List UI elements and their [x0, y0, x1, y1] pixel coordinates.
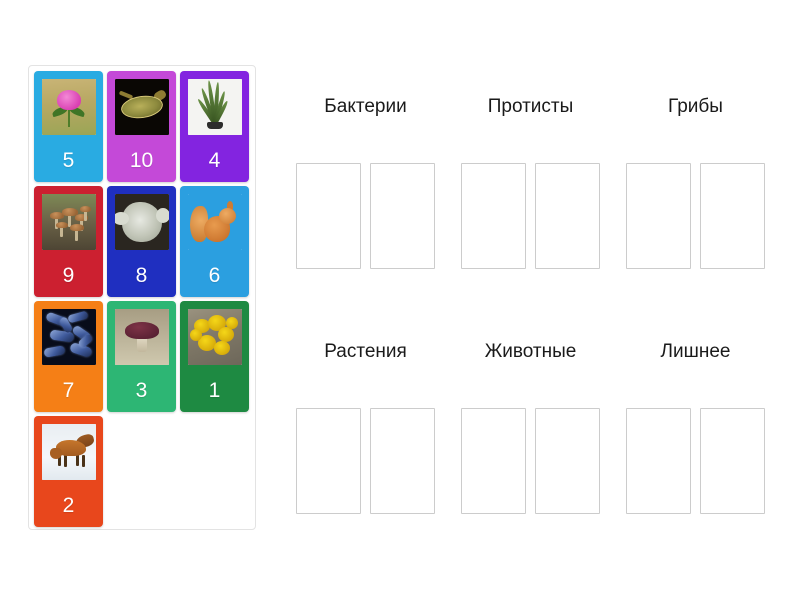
category-fungi: Грибы	[613, 95, 778, 269]
category-bacteria-dropzone-2[interactable]	[370, 163, 435, 269]
card-tray-panel: 51049867312	[28, 65, 256, 530]
category-animals: Животные	[448, 340, 613, 514]
fox-in-snow-image	[42, 424, 96, 480]
category-animals-label: Животные	[485, 340, 577, 364]
card-number-label: 2	[63, 495, 75, 516]
card-number-label: 4	[209, 150, 221, 171]
card-3[interactable]: 3	[107, 301, 176, 412]
category-plants-dropzone-2[interactable]	[370, 408, 435, 514]
card-number-label: 6	[209, 265, 221, 286]
category-row-1: РастенияЖивотныеЛишнее	[283, 340, 778, 514]
card-5[interactable]: 5	[34, 71, 103, 182]
category-protists-dropzones	[461, 163, 600, 269]
honey-mushrooms-image	[42, 194, 96, 250]
grey-lichen-bark-image	[115, 194, 169, 250]
card-10[interactable]: 10	[107, 71, 176, 182]
category-animals-dropzones	[461, 408, 600, 514]
category-fungi-dropzone-1[interactable]	[626, 163, 691, 269]
category-extra: Лишнее	[613, 340, 778, 514]
card-number-label: 10	[130, 150, 153, 171]
category-plants-label: Растения	[324, 340, 407, 364]
clover-flower-image	[42, 79, 96, 135]
category-bacteria-label: Бактерии	[324, 95, 406, 119]
card-grid: 51049867312	[34, 71, 251, 529]
snake-plant-image	[188, 79, 242, 135]
card-9[interactable]: 9	[34, 186, 103, 297]
card-6[interactable]: 6	[180, 186, 249, 297]
card-1[interactable]: 1	[180, 301, 249, 412]
category-area: БактерииПротистыГрибыРастенияЖивотныеЛиш…	[283, 95, 778, 545]
category-row-0: БактерииПротистыГрибы	[283, 95, 778, 269]
card-8[interactable]: 8	[107, 186, 176, 297]
category-plants: Растения	[283, 340, 448, 514]
card-7[interactable]: 7	[34, 301, 103, 412]
squirrel-image	[188, 194, 242, 250]
card-slot-empty	[180, 416, 249, 527]
category-protists: Протисты	[448, 95, 613, 269]
category-plants-dropzone-1[interactable]	[296, 408, 361, 514]
category-animals-dropzone-2[interactable]	[535, 408, 600, 514]
yellow-lichen-rock-image	[188, 309, 242, 365]
card-2[interactable]: 2	[34, 416, 103, 527]
card-number-label: 3	[136, 380, 148, 401]
card-4[interactable]: 4	[180, 71, 249, 182]
bolete-mushroom-image	[115, 309, 169, 365]
category-plants-dropzones	[296, 408, 435, 514]
bacteria-sem-image	[42, 309, 96, 365]
category-fungi-dropzone-2[interactable]	[700, 163, 765, 269]
category-extra-dropzone-2[interactable]	[700, 408, 765, 514]
category-fungi-dropzones	[626, 163, 765, 269]
category-bacteria-dropzone-1[interactable]	[296, 163, 361, 269]
card-number-label: 1	[209, 380, 221, 401]
category-animals-dropzone-1[interactable]	[461, 408, 526, 514]
category-extra-label: Лишнее	[661, 340, 731, 364]
card-number-label: 7	[63, 380, 75, 401]
category-protists-label: Протисты	[488, 95, 574, 119]
category-fungi-label: Грибы	[668, 95, 723, 119]
category-protists-dropzone-1[interactable]	[461, 163, 526, 269]
card-number-label: 5	[63, 150, 75, 171]
card-number-label: 9	[63, 265, 75, 286]
protist-microscope-image	[115, 79, 169, 135]
category-bacteria-dropzones	[296, 163, 435, 269]
category-extra-dropzone-1[interactable]	[626, 408, 691, 514]
category-bacteria: Бактерии	[283, 95, 448, 269]
category-protists-dropzone-2[interactable]	[535, 163, 600, 269]
card-slot-empty	[107, 416, 176, 527]
card-number-label: 8	[136, 265, 148, 286]
category-extra-dropzones	[626, 408, 765, 514]
